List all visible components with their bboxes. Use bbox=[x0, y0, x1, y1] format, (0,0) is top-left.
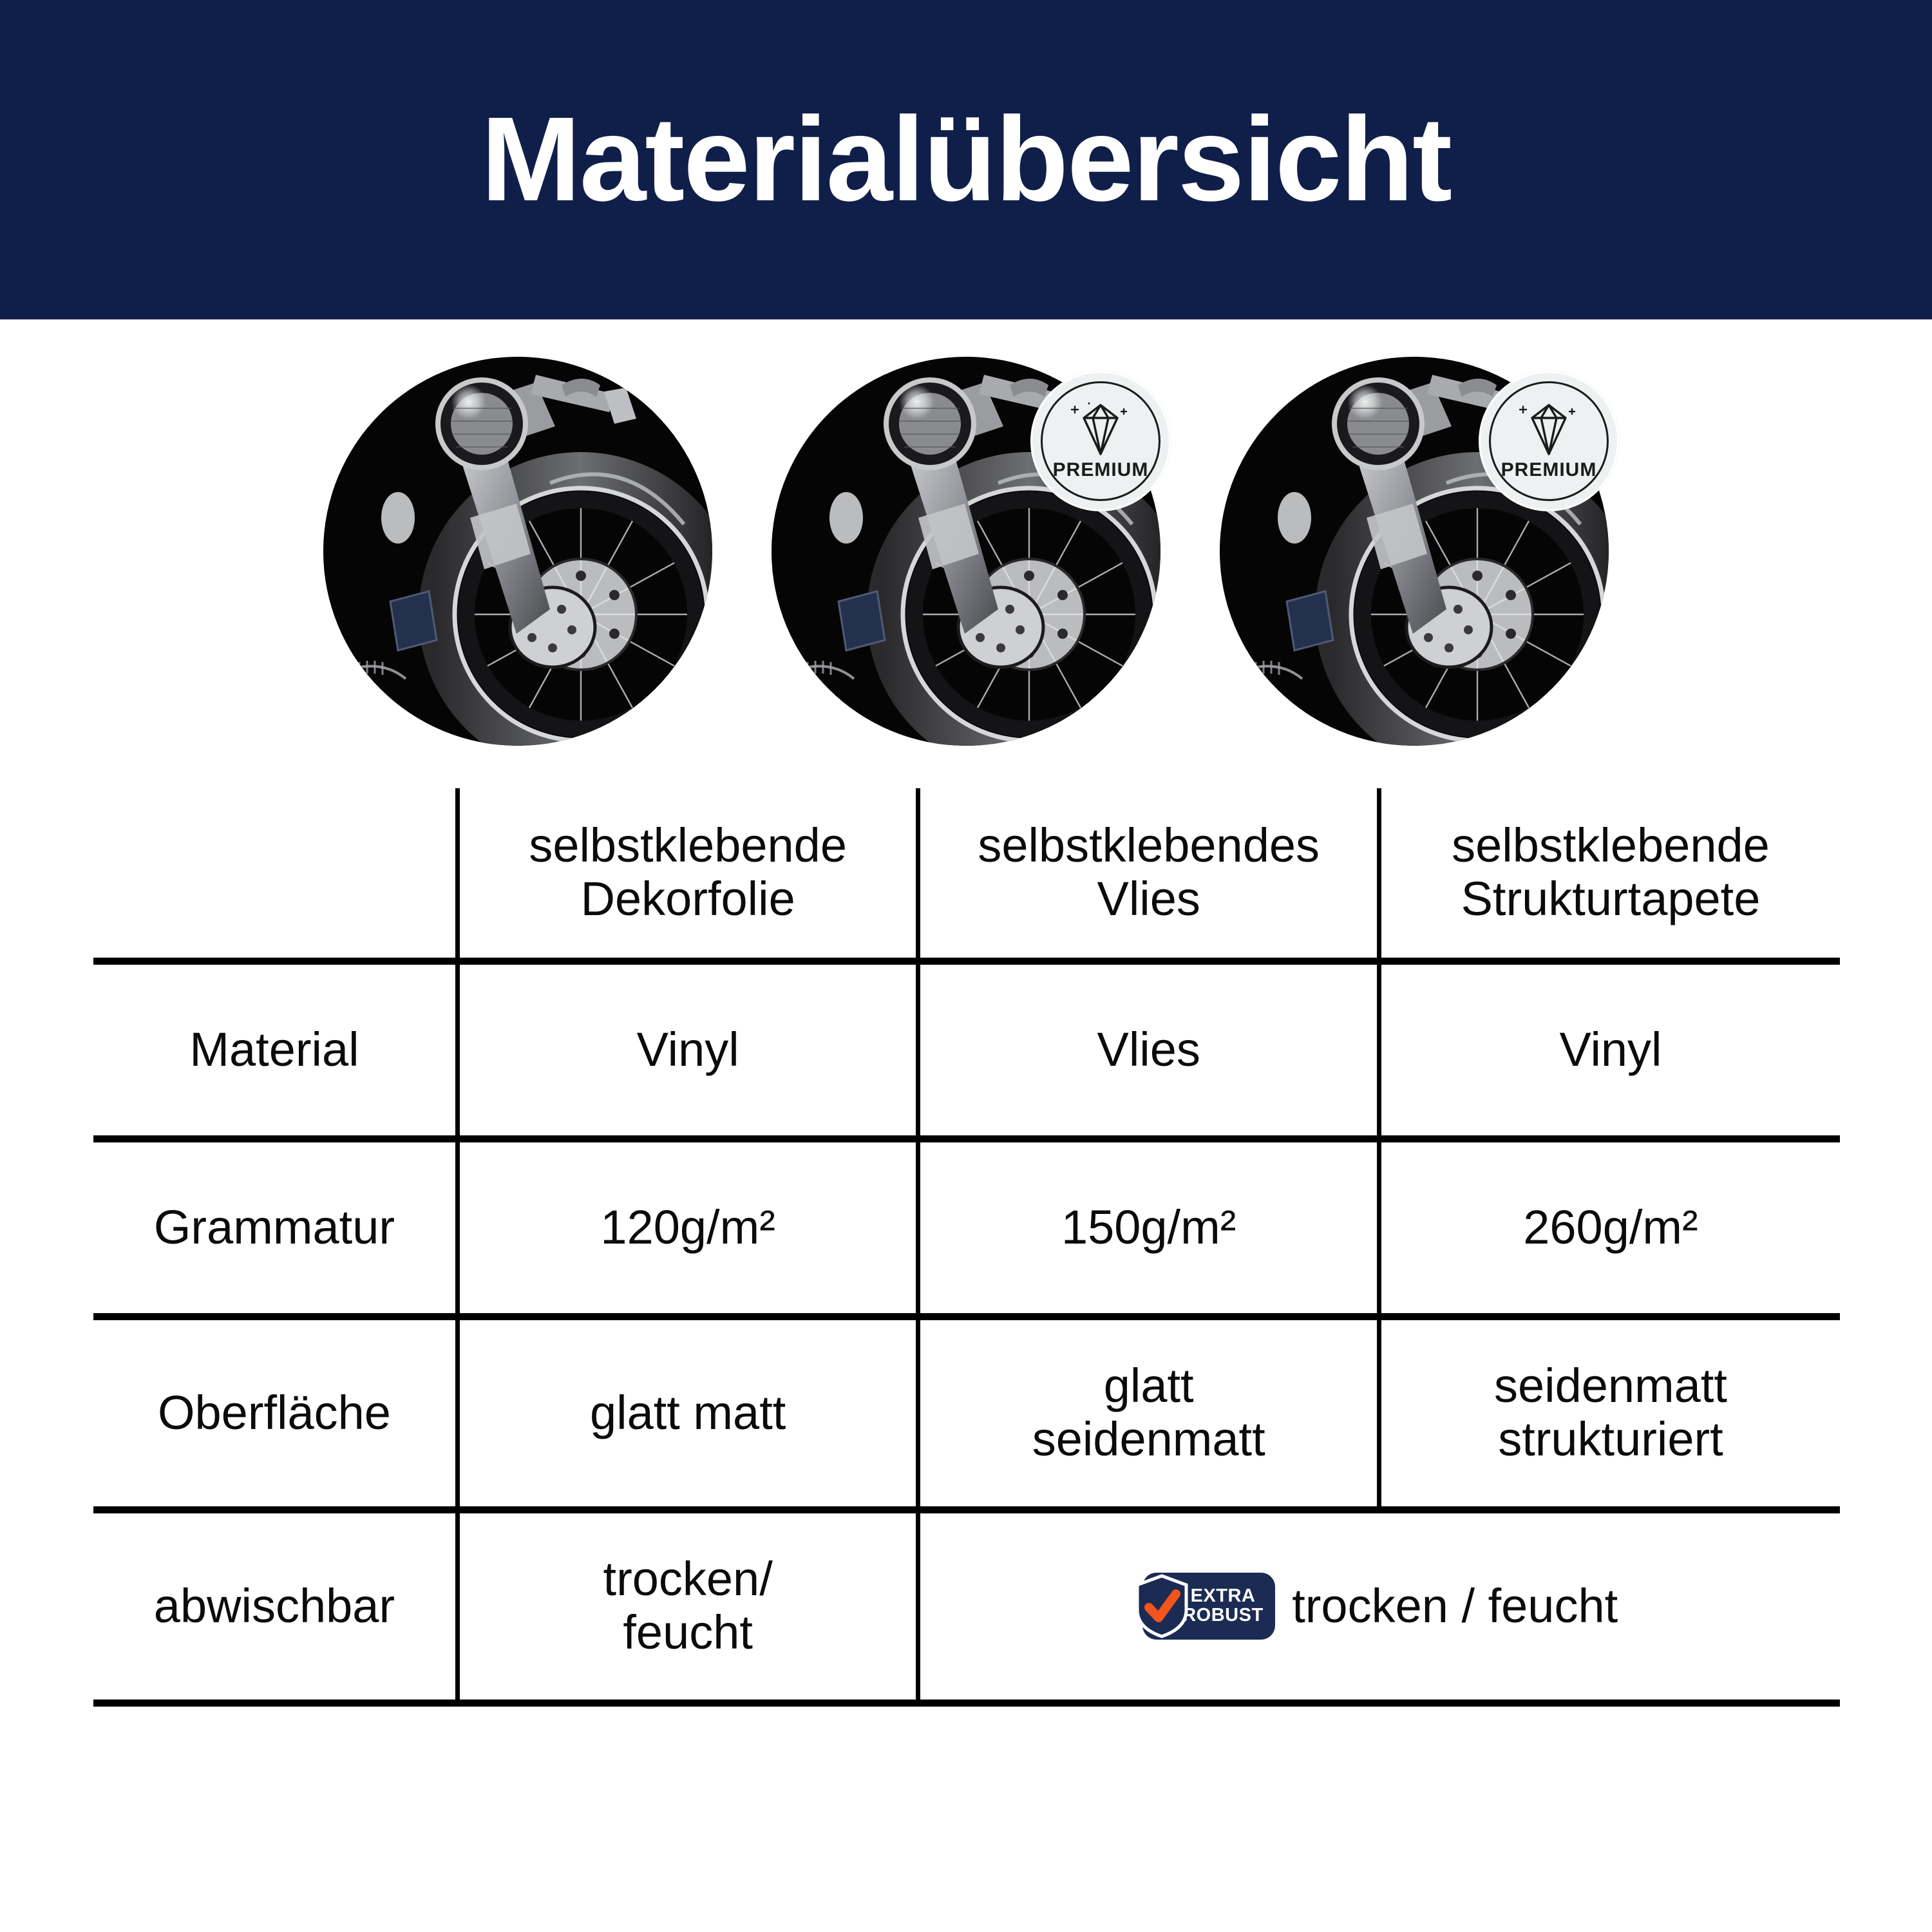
shield-check-icon bbox=[1133, 1574, 1190, 1638]
page-title: Materialübersicht bbox=[481, 100, 1451, 220]
table-row-material: Material Vinyl Vlies Vinyl bbox=[93, 961, 1840, 1139]
robust-line-2: ROBUST bbox=[1182, 1606, 1263, 1625]
material-comparison-table: selbstklebende Dekorfolie selbstklebende… bbox=[93, 788, 1840, 1707]
header-line-1: selbstklebende bbox=[475, 819, 901, 873]
column-header-dekorfolie: selbstklebende Dekorfolie bbox=[457, 788, 918, 961]
row-label-grammatur: Grammatur bbox=[93, 1139, 457, 1316]
diamond-icon bbox=[1513, 402, 1585, 458]
row-label-oberflaeche: Oberfläche bbox=[93, 1316, 457, 1510]
header-empty-cell bbox=[93, 788, 457, 961]
cell-abwischbar-merged: EXTRA ROBUST trocken / feucht bbox=[918, 1510, 1840, 1703]
cell-abwischbar-dekorfolie: trocken/ feucht bbox=[457, 1510, 918, 1703]
material-comparison-table-wrapper: selbstklebende Dekorfolie selbstklebende… bbox=[0, 757, 1932, 1932]
premium-badge: PREMIUM bbox=[1030, 371, 1171, 511]
cell-material-dekorfolie: Vinyl bbox=[457, 961, 918, 1139]
robust-line-1: EXTRA bbox=[1182, 1587, 1263, 1606]
value-line-2: feucht bbox=[475, 1606, 901, 1660]
premium-badge-label: PREMIUM bbox=[1501, 460, 1597, 480]
header-line-1: selbstklebende bbox=[1397, 819, 1824, 873]
cell-oberflaeche-vlies: glatt seidenmatt bbox=[918, 1316, 1379, 1510]
cell-material-vlies: Vlies bbox=[918, 961, 1379, 1139]
diamond-icon bbox=[1065, 402, 1137, 458]
cell-abwischbar-merged-text: trocken / feucht bbox=[1292, 1580, 1618, 1633]
cell-oberflaeche-strukturtapete: seidenmatt strukturiert bbox=[1379, 1316, 1840, 1510]
value-line-1: trocken/ bbox=[475, 1553, 901, 1606]
column-header-vlies: selbstklebendes Vlies bbox=[918, 788, 1379, 961]
header-line-1: selbstklebendes bbox=[936, 819, 1361, 873]
row-label-abwischbar: abwischbar bbox=[93, 1510, 457, 1703]
product-tile-dekorfolie[interactable] bbox=[323, 357, 712, 746]
extra-robust-badge: EXTRA ROBUST bbox=[1142, 1573, 1275, 1640]
product-tile-vlies[interactable]: PREMIUM bbox=[772, 357, 1160, 746]
header-banner: Materialübersicht bbox=[0, 0, 1932, 319]
cell-grammatur-dekorfolie: 120g/m² bbox=[457, 1139, 918, 1316]
table-row-abwischbar: abwischbar trocken/ feucht EXTRA bbox=[93, 1510, 1840, 1703]
cell-grammatur-vlies: 150g/m² bbox=[918, 1139, 1379, 1316]
table-header-row: selbstklebende Dekorfolie selbstklebende… bbox=[93, 788, 1840, 961]
table-row-oberflaeche: Oberfläche glatt matt glatt seidenmatt s… bbox=[93, 1316, 1840, 1510]
row-label-material: Material bbox=[93, 961, 457, 1139]
header-line-2: Strukturtapete bbox=[1397, 873, 1824, 926]
cell-oberflaeche-dekorfolie: glatt matt bbox=[457, 1316, 918, 1510]
header-line-2: Dekorfolie bbox=[475, 873, 901, 926]
value-line-2: seidenmatt bbox=[936, 1413, 1361, 1466]
value-line-2: strukturiert bbox=[1397, 1413, 1824, 1466]
product-image-strip: PREMIUM bbox=[0, 319, 1932, 757]
cell-grammatur-strukturtapete: 260g/m² bbox=[1379, 1139, 1840, 1316]
value-line-1: seidenmatt bbox=[1397, 1359, 1824, 1413]
motorcycle-photo-1 bbox=[323, 357, 712, 746]
premium-badge-label: PREMIUM bbox=[1053, 460, 1149, 480]
table-row-grammatur: Grammatur 120g/m² 150g/m² 260g/m² bbox=[93, 1139, 1840, 1316]
product-tile-strukturtapete[interactable]: PREMIUM bbox=[1220, 357, 1609, 746]
cell-material-strukturtapete: Vinyl bbox=[1379, 961, 1840, 1139]
premium-badge: PREMIUM bbox=[1479, 371, 1619, 511]
value-line-1: glatt bbox=[936, 1359, 1361, 1413]
column-header-strukturtapete: selbstklebende Strukturtapete bbox=[1379, 788, 1840, 961]
header-line-2: Vlies bbox=[936, 873, 1361, 926]
